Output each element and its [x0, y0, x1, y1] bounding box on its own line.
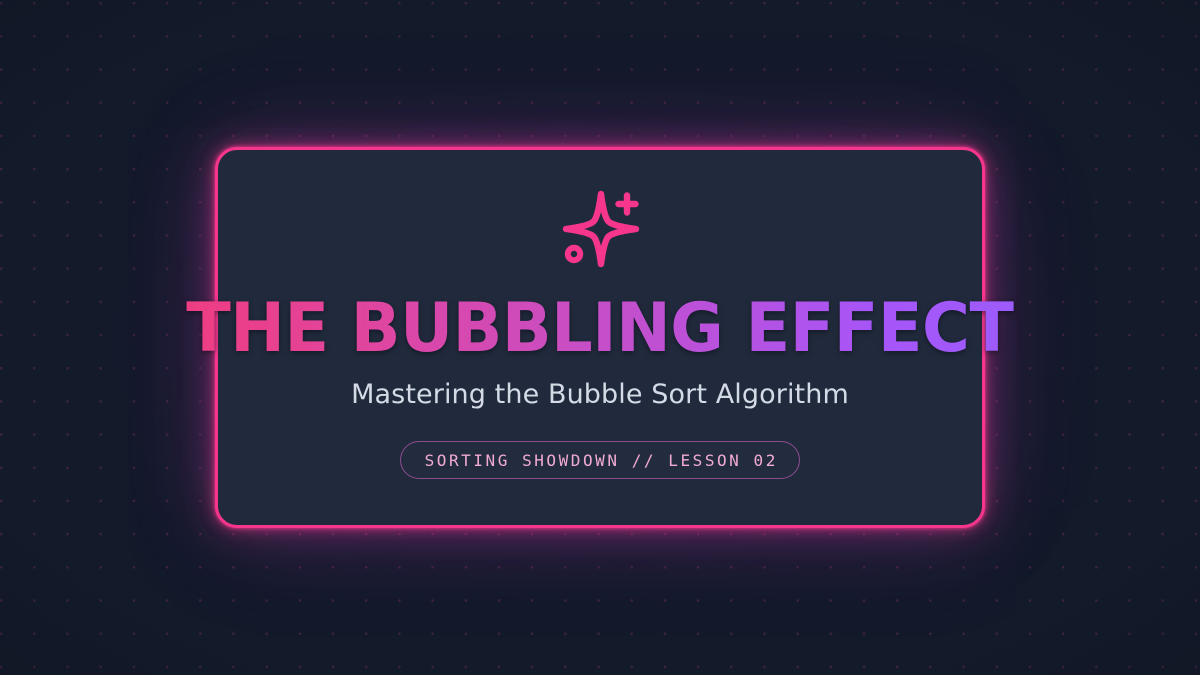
subtitle: Mastering the Bubble Sort Algorithm: [351, 379, 849, 411]
sparkle-icon: [554, 183, 646, 275]
title-card: THE BUBBLING EFFECT Mastering the Bubble…: [215, 147, 985, 528]
slide-canvas: THE BUBBLING EFFECT Mastering the Bubble…: [0, 0, 1200, 675]
lesson-badge: SORTING SHOWDOWN // LESSON 02: [400, 441, 800, 479]
page-title: THE BUBBLING EFFECT: [186, 295, 1013, 363]
